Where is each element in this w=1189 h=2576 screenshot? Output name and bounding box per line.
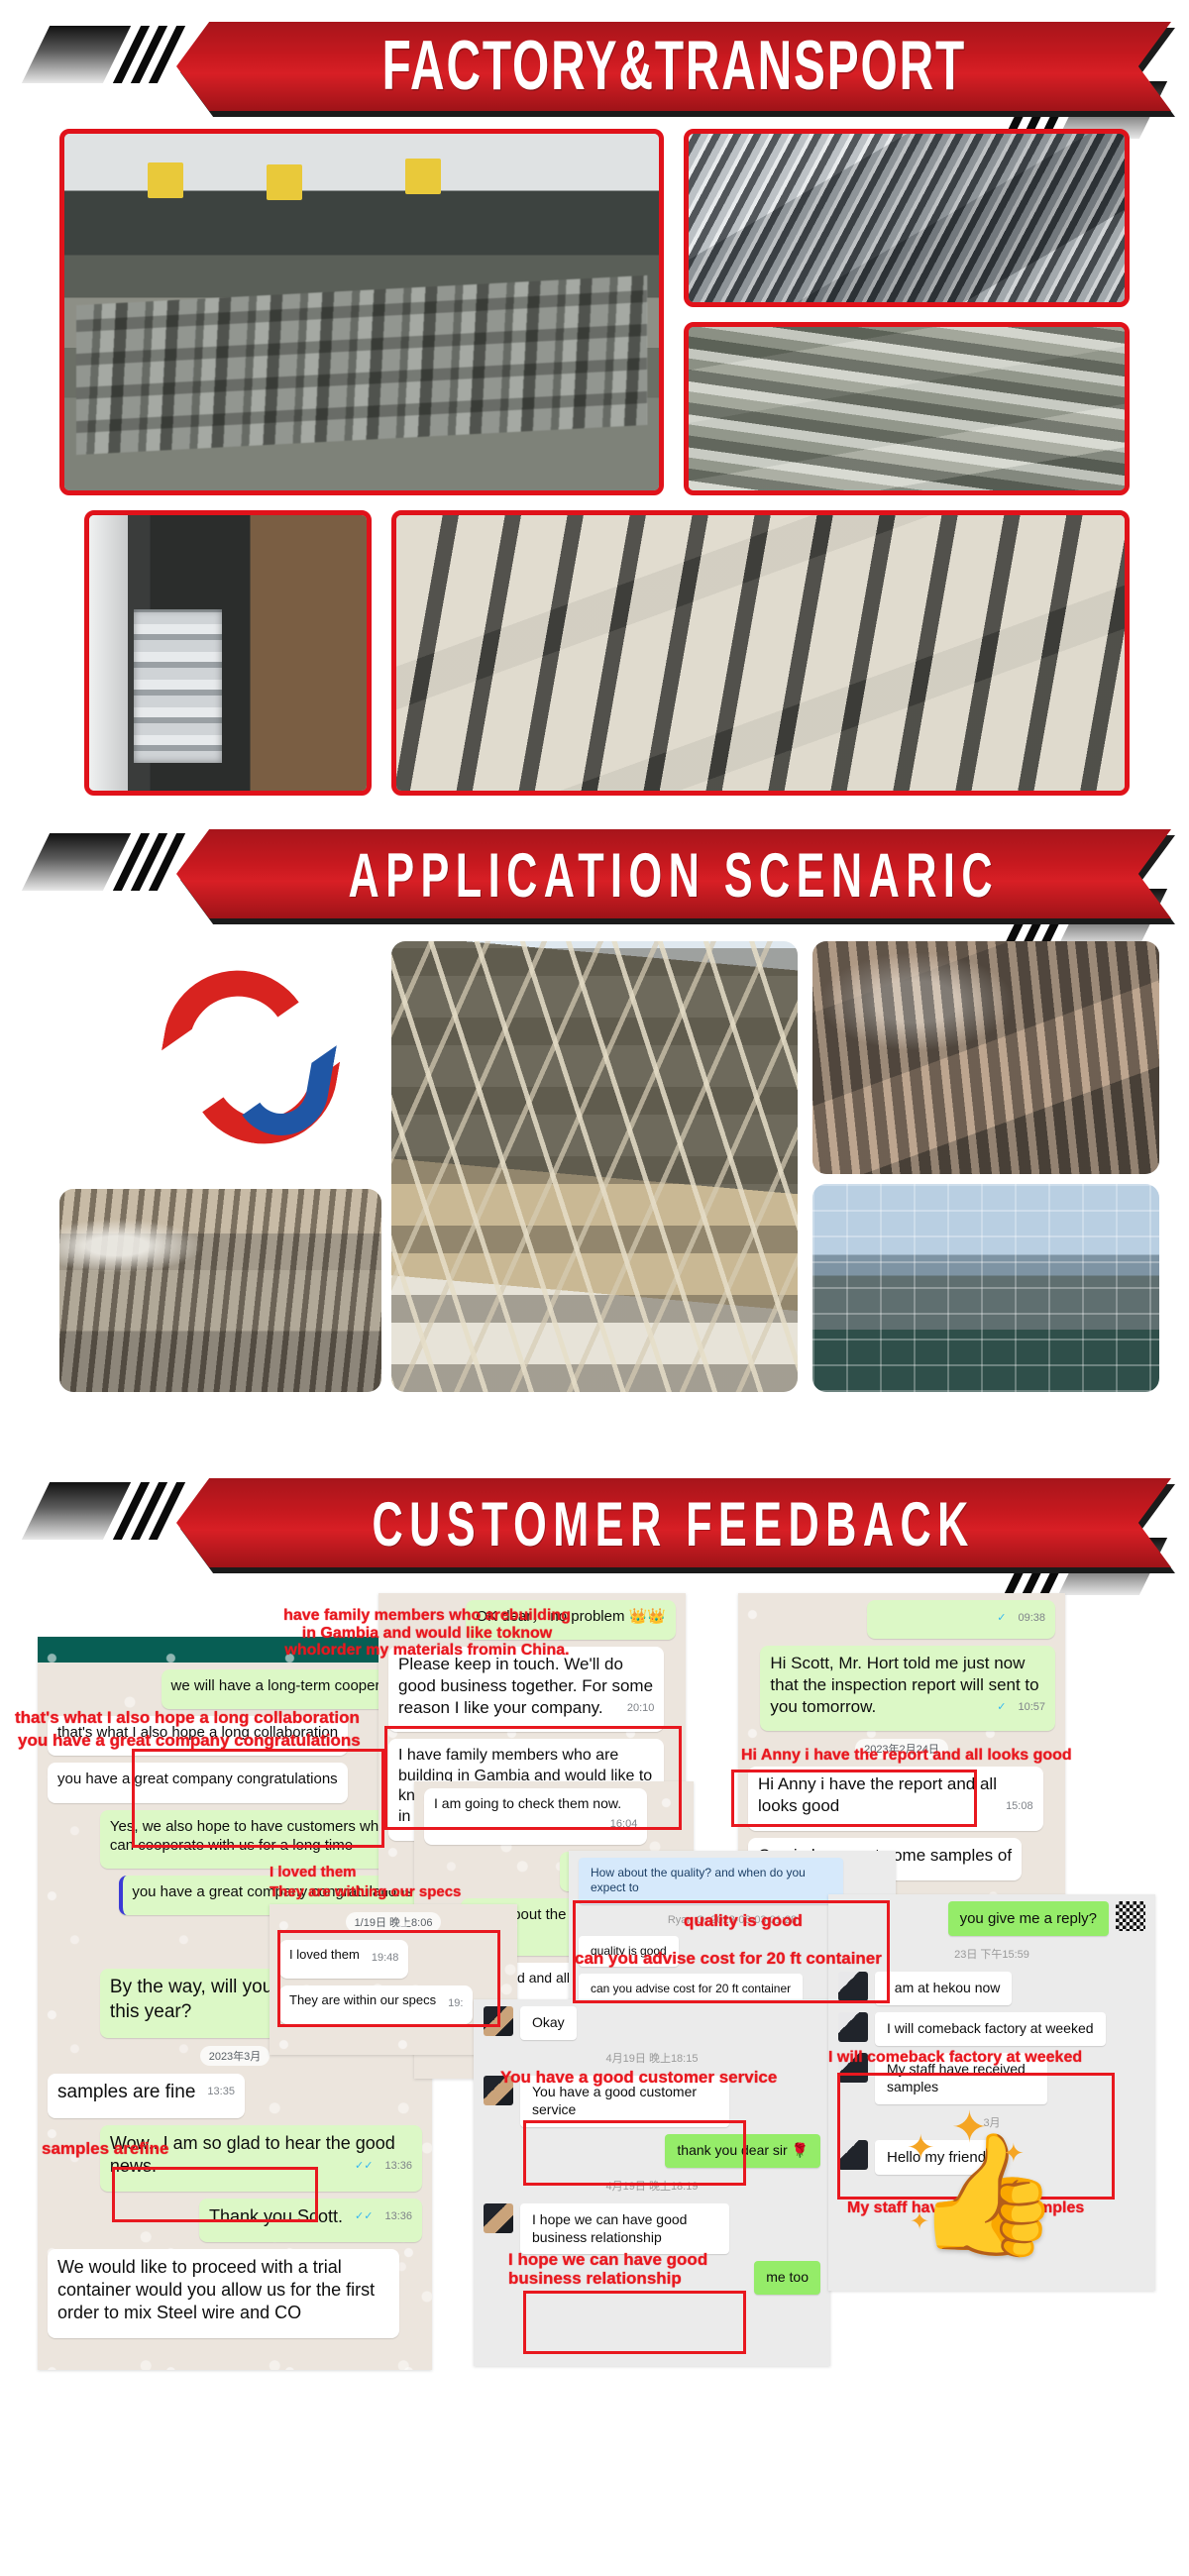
feedback-collage: we will have a long-term cooperation tha… [0, 1585, 1189, 2378]
annotation-text: that's what I also hope a long collabora… [15, 1709, 360, 1728]
banner-plate-3: CUSTOMER FEEDBACK [176, 1478, 1171, 1567]
chat-date-chip: 4月19日 晚上18:19 [597, 2176, 707, 2196]
annotation-text: They are withing our specs [270, 1884, 461, 1901]
section-banner-feedback: CUSTOMER FEEDBACK [0, 1456, 1189, 1585]
section-title-scenario: APPLICATION SCENARIC [349, 837, 1000, 911]
photo-steel-billets-bundles-in-mill [59, 129, 664, 495]
sparkle-icon: ✦ [910, 2207, 929, 2236]
company-logo [89, 936, 416, 1184]
chat-bubble: thank you dear sir 🌹 [665, 2134, 820, 2168]
section-banner-scenario: APPLICATION SCENARIC [0, 807, 1189, 936]
sparkle-icon: ✦ [907, 2128, 935, 2168]
banner-plate-2: APPLICATION SCENARIC [176, 829, 1171, 918]
chat-bubble: I will comeback factory at weeked [875, 2012, 1106, 2046]
chat-bubble: I hope we can have good business relatio… [520, 2203, 729, 2255]
annotation-text: quality is good [684, 1912, 803, 1931]
chat-bubble: Hi Scott, Mr. Hort told me just now that… [760, 1646, 1055, 1731]
factory-photo-grid [30, 129, 1159, 614]
logo-mark-icon [168, 971, 337, 1149]
thumbs-up-icon: 👍 [914, 2135, 1061, 2254]
avatar [838, 2012, 868, 2042]
screenshot-wechat-chat-customer-service[interactable]: Okay 4月19日 晚上18:15 You have a good custo… [474, 1999, 830, 2366]
scenario-photo-grid [30, 936, 1159, 1402]
chat-bubble: you have a great company congratulations [48, 1763, 348, 1802]
photo-angle-steel-bundles-stacked [684, 129, 1130, 307]
chat-date-chip: 23日 下午15:59 [945, 1944, 1038, 1964]
photo-loaded-shipping-container [84, 510, 372, 796]
chat-bubble: Wow.. I am so glad to hear the good news… [100, 2125, 422, 2192]
chat-bubble: Please keep in touch. We'll do good busi… [388, 1647, 664, 1732]
avatar [1116, 1901, 1145, 1931]
annotation-text: I loved them [270, 1865, 357, 1881]
chat-date-chip: 2023年3月 [200, 2046, 270, 2066]
annotation-text: samples arefine [42, 2140, 169, 2159]
chat-date-chip: 1/19日 晚上8:06 [346, 1912, 442, 1932]
chat-bubble: I am going to check them now.16:04 [424, 1788, 647, 1845]
chat-bubble: Okay [520, 2006, 577, 2040]
chat-date-chip: 4月19日 晚上18:15 [597, 2048, 707, 2068]
banner-slab-left [22, 26, 131, 83]
section-banner-factory: FACTORY&TRANSPORT [0, 0, 1189, 129]
chat-bubble: They are within our specs19: [279, 1986, 473, 2024]
avatar [484, 2006, 513, 2036]
photo-railway-track [59, 1189, 381, 1392]
photo-industrial-plant-pipes [812, 941, 1159, 1174]
chat-bubble: I loved them19:48 [279, 1940, 408, 1979]
banner-plate: FACTORY&TRANSPORT [176, 22, 1171, 111]
chat-bubble: 09:38✓ [867, 1600, 1055, 1639]
section-title-feedback: CUSTOMER FEEDBACK [373, 1486, 975, 1559]
chat-bubble: Thank you Scott.13:36✓✓ [199, 2199, 422, 2242]
section-title-factory: FACTORY&TRANSPORT [381, 27, 965, 107]
avatar [484, 2203, 513, 2233]
chat-bubble: How about the quality? and when do you e… [579, 1858, 843, 1904]
photo-offshore-platform-deck [812, 1184, 1159, 1392]
chat-bubble: Hi Anny i have the report and all looks … [748, 1767, 1043, 1831]
sparkle-icon: ✦ [1003, 2138, 1025, 2169]
annotation-text: you have a great company congratulations [18, 1732, 361, 1751]
annotation-text: You have a good customer service [500, 2069, 777, 2088]
chat-bubble: We would like to proceed with a trial co… [48, 2249, 399, 2338]
avatar [838, 1972, 868, 2001]
banner-slab-left-2 [22, 833, 131, 891]
photo-flat-bar-steel-on-rack [684, 322, 1130, 495]
annotation-text: can you advise cost for 20 ft container [575, 1950, 882, 1969]
annotation-text: I will comeback factory at weeked [828, 2049, 1082, 2067]
chat-bubble: samples are fine13:35 [48, 2074, 245, 2118]
annotation-text: Hi Anny i have the report and all looks … [741, 1747, 1072, 1765]
annotation-text: I hope we can have good business relatio… [508, 2251, 776, 2288]
banner-slab-left-3 [22, 1482, 131, 1540]
annotation-text: have family members who arebuilding in G… [283, 1607, 571, 1660]
photo-wooden-crates-packing [391, 510, 1130, 796]
avatar [838, 2140, 868, 2170]
chat-bubble: Yes, we also hope to have customers who … [100, 1810, 422, 1869]
chat-bubble: you give me a reply? [948, 1901, 1109, 1936]
sparkle-icon: ✦ [951, 2102, 988, 2153]
chat-bubble: I am at hekou now [875, 1972, 1012, 2005]
photo-steel-bridge-truss [391, 941, 798, 1392]
